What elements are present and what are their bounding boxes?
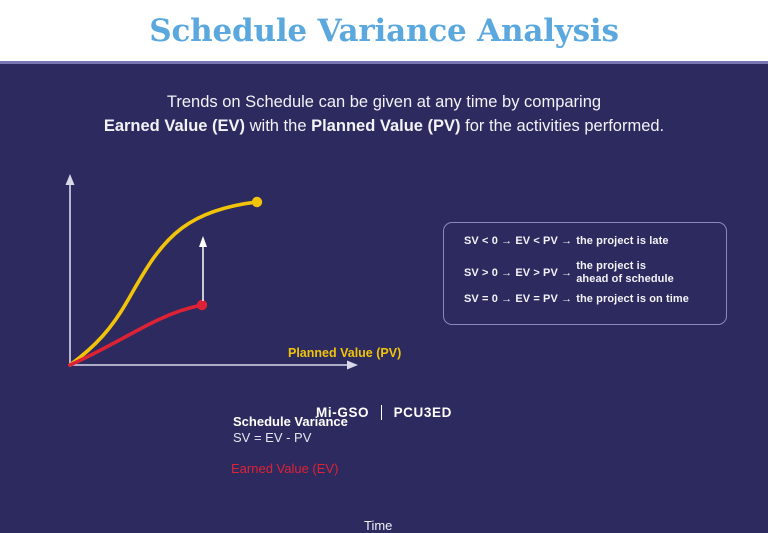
logo-text-migso: Mi-GSO [316, 405, 369, 420]
y-axis-arrowhead [66, 174, 75, 185]
legend-row: SV > 0 → EV > PV → the project is ahead … [464, 260, 674, 285]
legend-formula: SV < 0 → EV < PV → [464, 235, 572, 247]
x-axis-arrowhead [347, 361, 358, 370]
legend-description: the project is late [576, 235, 668, 248]
legend-description-line-1: the project is [576, 260, 674, 273]
schedule-variance-arrowhead [199, 236, 207, 247]
legend-row: SV = 0 → EV = PV → the project is on tim… [464, 293, 689, 306]
earned-value-endpoint-marker [197, 300, 207, 310]
subtitle: Trends on Schedule can be given at any t… [0, 90, 768, 138]
schedule-variance-chart: Costs Time Planned Value (PV) Earned Val… [0, 160, 440, 390]
interpretation-legend-box: SV < 0 → EV < PV → the project is late S… [443, 222, 727, 325]
earned-value-series-label: Earned Value (EV) [231, 461, 338, 476]
schedule-variance-formula: SV = EV - PV [233, 430, 348, 446]
planned-value-series-label: Planned Value (PV) [288, 346, 401, 360]
footer-logo: Mi-GSO PCU3ED [0, 404, 768, 422]
header-divider-rule [0, 61, 768, 64]
subtitle-line-2-end: for the activities performed. [461, 117, 665, 135]
planned-value-curve [70, 202, 257, 365]
legend-description: the project is on time [576, 293, 689, 306]
legend-description-line-1: the project is on time [576, 293, 689, 306]
planned-value-endpoint-marker [252, 197, 262, 207]
earned-value-curve [70, 305, 202, 365]
legend-row: SV < 0 → EV < PV → the project is late [464, 235, 669, 248]
subtitle-emphasis-pv: Planned Value (PV) [311, 117, 460, 135]
subtitle-line-1: Trends on Schedule can be given at any t… [167, 93, 601, 111]
logo-text-pcubed: PCU3ED [394, 405, 452, 420]
x-axis-label: Time [364, 518, 392, 533]
legend-formula: SV = 0 → EV = PV → [464, 293, 572, 305]
legend-formula: SV > 0 → EV > PV → [464, 267, 572, 279]
page-title: Schedule Variance Analysis [0, 13, 768, 49]
logo-divider [381, 405, 383, 420]
subtitle-line-2-mid: with the [245, 117, 311, 135]
legend-description-line-2: ahead of schedule [576, 273, 674, 286]
slide-root: Schedule Variance Analysis Trends on Sch… [0, 0, 768, 446]
legend-description: the project is ahead of schedule [576, 260, 674, 285]
subtitle-emphasis-ev: Earned Value (EV) [104, 117, 245, 135]
legend-description-line-1: the project is late [576, 235, 668, 248]
